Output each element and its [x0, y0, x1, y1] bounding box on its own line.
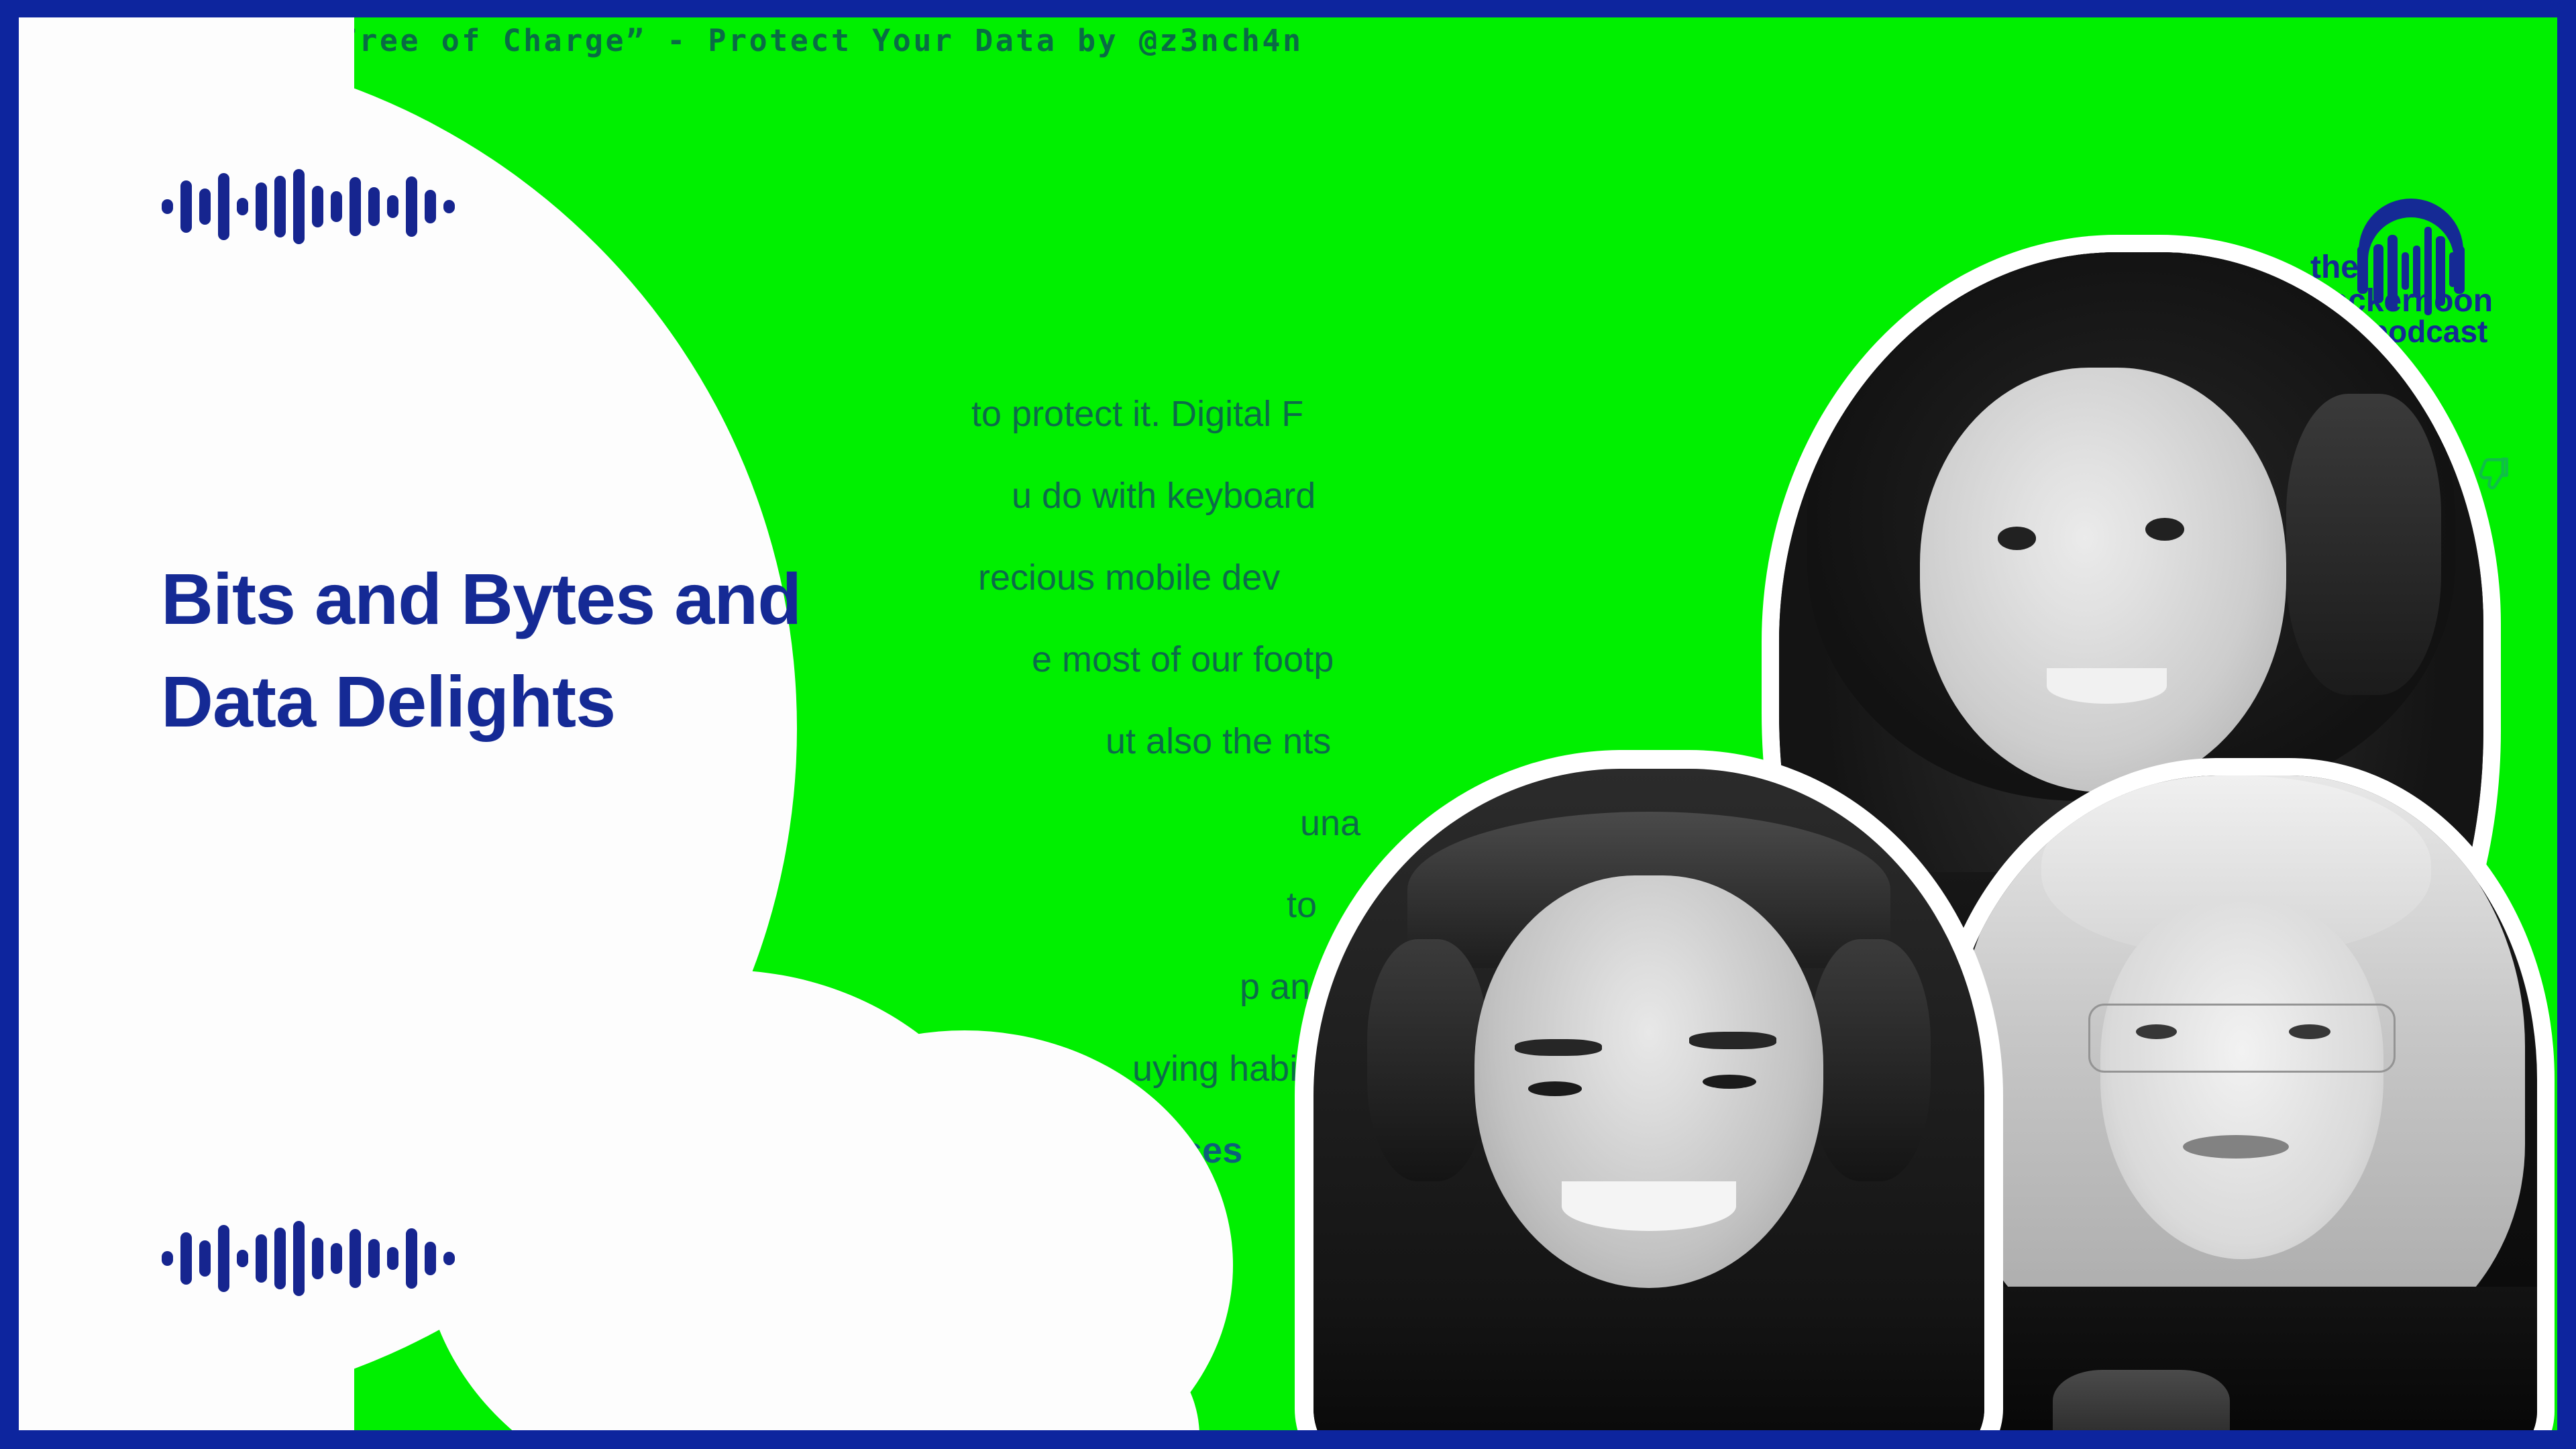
- participant-bottom-right: [1947, 775, 2537, 1430]
- article-header-text: fe are “Free of Charge” - Protect Your D…: [174, 23, 1303, 58]
- episode-cover-stage: fe are “Free of Charge” - Protect Your D…: [19, 17, 2557, 1430]
- article-bold-word: uses: [1160, 1130, 1242, 1171]
- video-frame-border: fe are “Free of Charge” - Protect Your D…: [0, 0, 2576, 1449]
- participant-photo: [1947, 775, 2537, 1430]
- participant-bottom-left: [1313, 769, 1984, 1430]
- audio-waveform-icon: [162, 1218, 455, 1299]
- page-title: Bits and Bytes and Data Delights: [161, 547, 953, 753]
- audio-waveform-icon: [162, 166, 455, 247]
- participant-photo: [1313, 769, 1984, 1430]
- article-line-text: web browser: [945, 1130, 1160, 1171]
